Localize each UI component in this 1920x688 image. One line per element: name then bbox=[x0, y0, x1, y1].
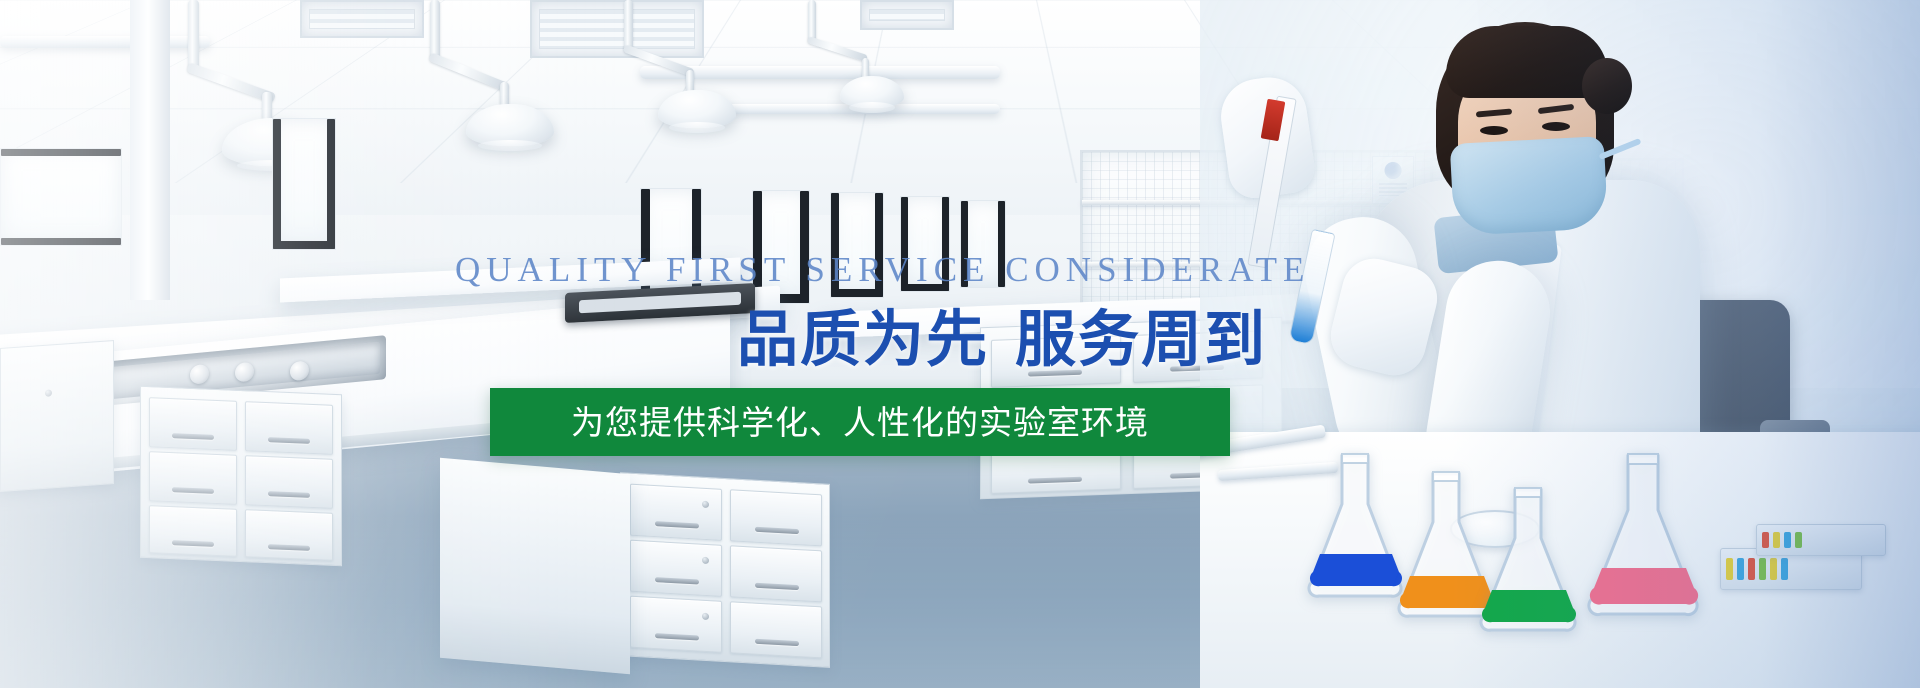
drawer bbox=[245, 455, 333, 509]
drawer-handle bbox=[755, 527, 799, 534]
drawer-lock bbox=[702, 613, 709, 620]
cabinet-lock bbox=[45, 389, 52, 396]
drawer-handle bbox=[268, 437, 310, 444]
technician-photo bbox=[1200, 0, 1920, 688]
wall-window bbox=[272, 118, 336, 250]
face-mask bbox=[1450, 136, 1609, 236]
hero-banner: QUALITY FIRST SERVICE CONSIDERATE 品质为先服务… bbox=[0, 0, 1920, 688]
drawer-handle bbox=[755, 583, 799, 590]
test-tube bbox=[1726, 558, 1733, 580]
drawer-handle bbox=[172, 487, 214, 494]
drawer bbox=[630, 596, 722, 653]
banner-subtitle-bar[interactable]: 为您提供科学化、人性化的实验室环境 bbox=[490, 388, 1230, 456]
ceiling-lamp bbox=[790, 0, 940, 150]
test-tube bbox=[1737, 558, 1744, 580]
drawer bbox=[245, 509, 333, 561]
bench-support-post bbox=[130, 0, 170, 300]
drawer-handle bbox=[268, 544, 310, 551]
drawer bbox=[245, 401, 333, 455]
drawer-lock bbox=[702, 557, 709, 564]
test-tube bbox=[1781, 558, 1788, 580]
test-tube bbox=[1795, 532, 1802, 548]
wall-window bbox=[960, 200, 1006, 288]
drawer bbox=[630, 540, 722, 597]
bench-plinth bbox=[440, 458, 630, 675]
erlenmeyer-flask-pink bbox=[1580, 452, 1706, 622]
laboratory-photo bbox=[0, 0, 1920, 688]
drawer-handle bbox=[1028, 477, 1082, 484]
drawer bbox=[149, 397, 237, 451]
eye-left bbox=[1480, 126, 1508, 135]
drawer-handle bbox=[1028, 370, 1082, 377]
ceiling-lamp bbox=[600, 0, 770, 165]
test-tube bbox=[1770, 558, 1777, 580]
test-tube-rack bbox=[1756, 524, 1886, 556]
test-tube bbox=[1762, 532, 1769, 548]
ceiling-lamp bbox=[400, 0, 580, 175]
banner-subtitle-text: 为您提供科学化、人性化的实验室环境 bbox=[571, 406, 1149, 439]
test-tube bbox=[1759, 558, 1766, 580]
drawer-handle bbox=[655, 521, 699, 528]
drawer-handle bbox=[172, 433, 214, 440]
drawer-lock bbox=[702, 501, 709, 508]
drawer-handle bbox=[755, 639, 799, 646]
drawer bbox=[730, 489, 822, 546]
drawer-handle bbox=[172, 540, 214, 547]
drawer bbox=[730, 545, 822, 602]
eye-right bbox=[1542, 122, 1570, 131]
drawer bbox=[730, 601, 822, 658]
drawer bbox=[149, 451, 237, 505]
hair-bun bbox=[1582, 58, 1632, 114]
drawer bbox=[149, 505, 237, 557]
drawer-handle bbox=[655, 633, 699, 640]
test-tube bbox=[1773, 532, 1780, 548]
drawer bbox=[630, 484, 722, 541]
test-tube bbox=[1748, 558, 1755, 580]
drawer-stack bbox=[620, 472, 830, 668]
under-bench-cabinet bbox=[0, 340, 114, 492]
erlenmeyer-flask-green bbox=[1472, 486, 1584, 636]
drawer bbox=[991, 335, 1121, 388]
drawer-stack bbox=[140, 386, 342, 566]
test-tube bbox=[1784, 532, 1791, 548]
drawer-handle bbox=[655, 577, 699, 584]
wall-window bbox=[900, 196, 950, 292]
drawer-handle bbox=[268, 491, 310, 498]
wall-window bbox=[0, 148, 122, 246]
wall-window bbox=[830, 192, 884, 298]
